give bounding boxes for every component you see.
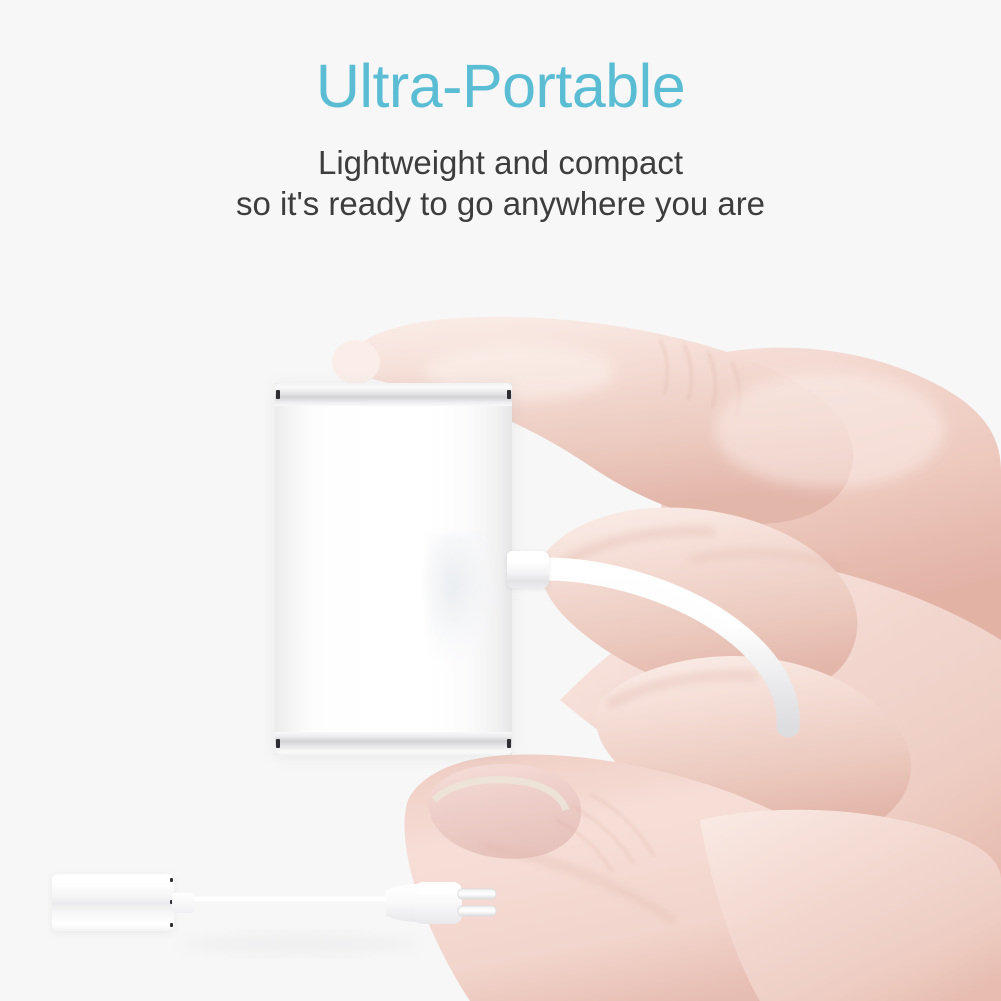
product-photo-scene xyxy=(0,0,1001,1001)
white-dongle-secondary xyxy=(52,874,174,931)
product-marketing-image: Ultra-Portable Lightweight and compact s… xyxy=(0,0,1001,1001)
adapter-corner-marker xyxy=(276,390,280,399)
adapter-top-edge xyxy=(275,383,512,406)
white-adapter-main xyxy=(275,383,512,755)
dongle-corner-marker xyxy=(170,923,173,927)
adapter-corner-marker xyxy=(507,739,511,748)
adapter-sheen xyxy=(425,533,495,663)
dongle-strain-relief xyxy=(172,893,194,913)
dongle-cable-and-connector xyxy=(192,882,496,924)
adapter-bottom-edge xyxy=(275,732,512,755)
dongle-shadow xyxy=(180,935,420,953)
adapter-corner-marker xyxy=(276,739,280,748)
dongle-corner-marker xyxy=(170,878,173,882)
adapter-cable-port xyxy=(507,551,549,588)
adapter-corner-marker xyxy=(507,390,511,399)
